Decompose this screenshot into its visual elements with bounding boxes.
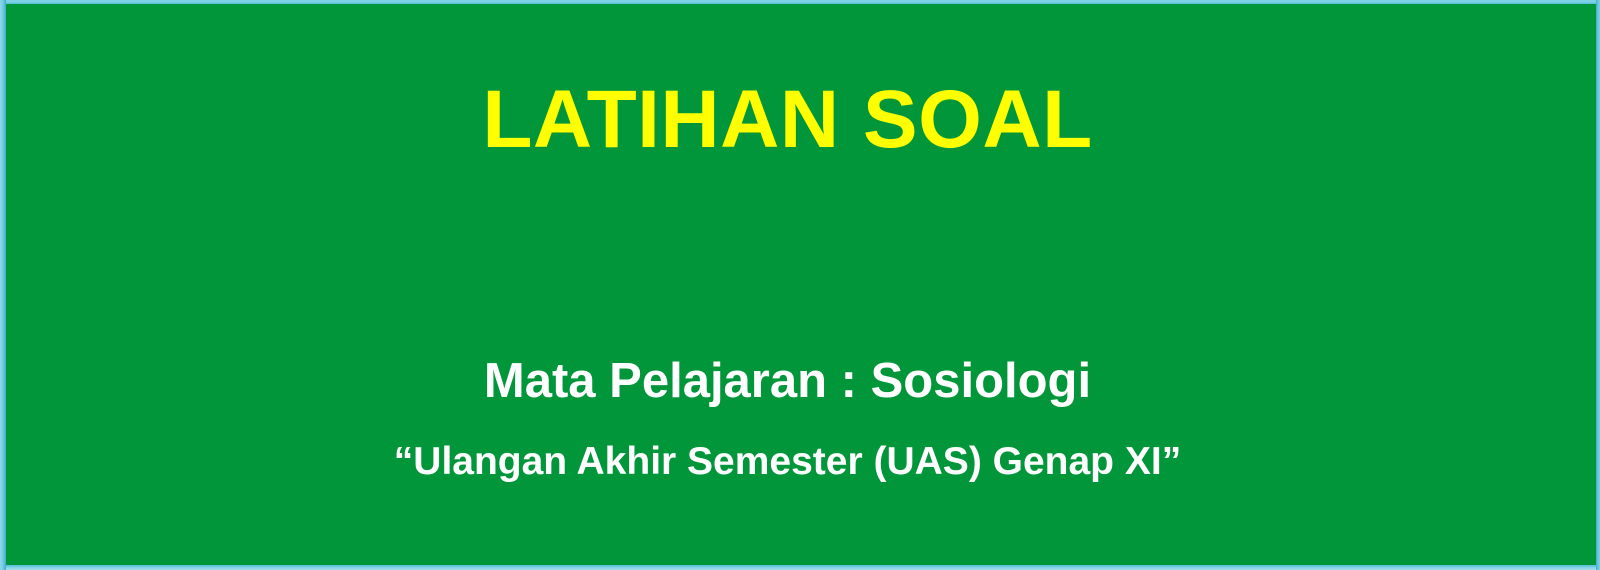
slide-content: LATIHAN SOAL Mata Pelajaran : Sosiologi … — [0, 0, 1575, 570]
exam-name-line: “Ulangan Akhir Semester (UAS) Genap XI” — [0, 438, 1575, 486]
slide-border-right — [1596, 0, 1600, 570]
subject-line: Mata Pelajaran : Sosiologi — [0, 352, 1575, 410]
presentation-slide: LATIHAN SOAL Mata Pelajaran : Sosiologi … — [0, 0, 1600, 570]
slide-title: LATIHAN SOAL — [0, 74, 1575, 166]
